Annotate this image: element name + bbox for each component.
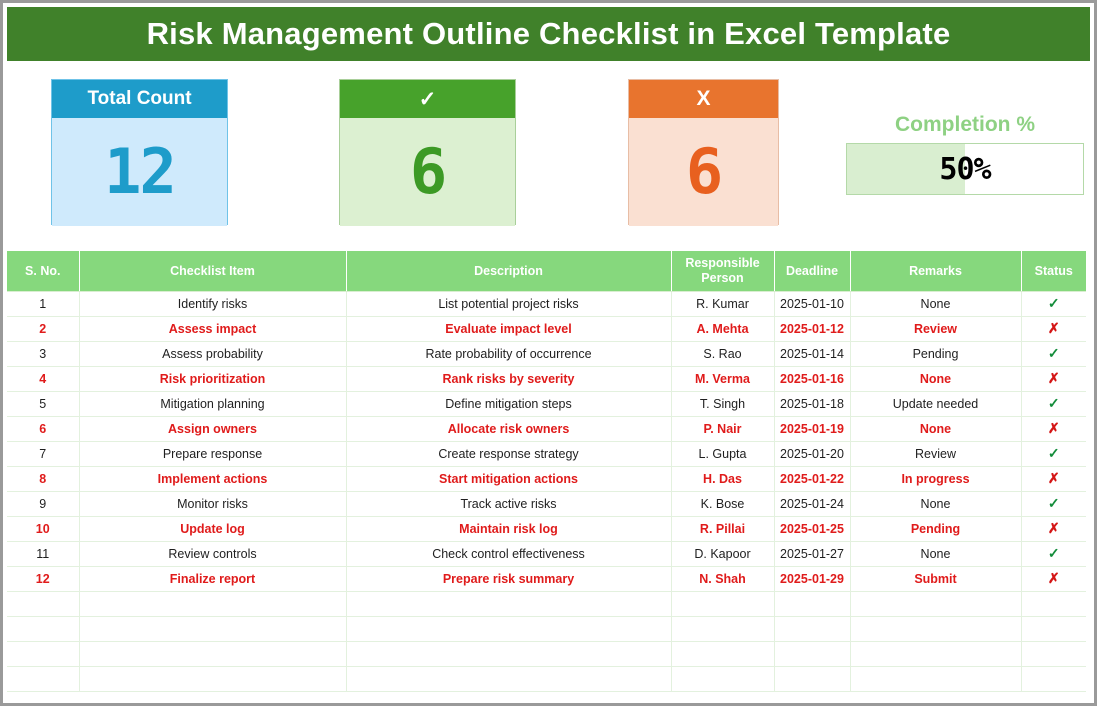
cell-description[interactable]: Evaluate impact level — [346, 316, 671, 341]
cell-responsible-person[interactable]: H. Das — [671, 466, 774, 491]
cell-empty[interactable] — [671, 641, 774, 666]
completion-percent-card[interactable]: Completion % 50% — [846, 113, 1084, 195]
table-row-empty[interactable] — [7, 591, 1086, 616]
page-title: Risk Management Outline Checklist in Exc… — [147, 16, 951, 52]
cell-empty[interactable] — [850, 666, 1021, 691]
completion-percent-label: Completion % — [846, 113, 1084, 137]
cell-checklist-item[interactable]: Review controls — [79, 541, 346, 566]
table-row[interactable]: 12Finalize reportPrepare risk summaryN. … — [7, 566, 1086, 591]
cell-responsible-person[interactable]: S. Rao — [671, 341, 774, 366]
cell-empty[interactable] — [7, 616, 79, 641]
cell-status[interactable]: ✓ — [1021, 291, 1086, 316]
cell-checklist-item[interactable]: Assess probability — [79, 341, 346, 366]
cell-status[interactable]: ✓ — [1021, 491, 1086, 516]
cell-remarks[interactable]: Pending — [850, 516, 1021, 541]
cell-empty[interactable] — [346, 591, 671, 616]
table-row-empty[interactable] — [7, 666, 1086, 691]
status-cross-icon: ✗ — [1048, 570, 1060, 586]
cell-responsible-person[interactable]: A. Mehta — [671, 316, 774, 341]
cell-s-no[interactable]: 8 — [7, 466, 79, 491]
cell-deadline[interactable]: 2025-01-29 — [774, 566, 850, 591]
spreadsheet-canvas: Risk Management Outline Checklist in Exc… — [0, 0, 1097, 706]
kpi-not-completed-value: 6 — [686, 141, 721, 203]
cell-empty[interactable] — [7, 591, 79, 616]
cell-status[interactable]: ✗ — [1021, 416, 1086, 441]
cell-empty[interactable] — [346, 616, 671, 641]
status-check-icon: ✓ — [1048, 395, 1060, 411]
status-cross-icon: ✗ — [1048, 370, 1060, 386]
table-row[interactable]: 3Assess probabilityRate probability of o… — [7, 341, 1086, 366]
cell-responsible-person[interactable]: N. Shah — [671, 566, 774, 591]
cell-empty[interactable] — [346, 666, 671, 691]
cell-deadline[interactable]: 2025-01-24 — [774, 491, 850, 516]
cell-deadline[interactable]: 2025-01-10 — [774, 291, 850, 316]
column-header-description[interactable]: Description — [346, 251, 671, 291]
table-row[interactable]: 5Mitigation planningDefine mitigation st… — [7, 391, 1086, 416]
cell-s-no[interactable]: 5 — [7, 391, 79, 416]
cell-responsible-person[interactable]: D. Kapoor — [671, 541, 774, 566]
completion-percent-value: 50% — [847, 144, 1083, 194]
cell-empty[interactable] — [7, 641, 79, 666]
column-header-responsible-person[interactable]: Responsible Person — [671, 251, 774, 291]
cell-deadline[interactable]: 2025-01-25 — [774, 516, 850, 541]
cell-empty[interactable] — [671, 591, 774, 616]
status-check-icon: ✓ — [1048, 495, 1060, 511]
cell-checklist-item[interactable]: Mitigation planning — [79, 391, 346, 416]
cell-description[interactable]: List potential project risks — [346, 291, 671, 316]
cell-status[interactable]: ✗ — [1021, 316, 1086, 341]
table-row-empty[interactable] — [7, 616, 1086, 641]
status-cross-icon: ✗ — [1048, 520, 1060, 536]
status-check-icon: ✓ — [1048, 345, 1060, 361]
cell-description[interactable]: Define mitigation steps — [346, 391, 671, 416]
cell-responsible-person[interactable]: L. Gupta — [671, 441, 774, 466]
cell-status[interactable]: ✗ — [1021, 566, 1086, 591]
table-header: S. No. Checklist Item Description Respon… — [7, 251, 1086, 291]
cell-status[interactable]: ✓ — [1021, 441, 1086, 466]
cell-deadline[interactable]: 2025-01-12 — [774, 316, 850, 341]
cell-status[interactable]: ✗ — [1021, 516, 1086, 541]
cell-empty[interactable] — [346, 641, 671, 666]
cell-deadline[interactable]: 2025-01-22 — [774, 466, 850, 491]
cell-deadline[interactable]: 2025-01-20 — [774, 441, 850, 466]
status-check-icon: ✓ — [1048, 295, 1060, 311]
table-row[interactable]: 10Update logMaintain risk logR. Pillai20… — [7, 516, 1086, 541]
cell-remarks[interactable]: None — [850, 416, 1021, 441]
kpi-card-not-completed[interactable]: X 6 — [628, 79, 779, 225]
status-cross-icon: ✗ — [1048, 420, 1060, 436]
cell-deadline[interactable]: 2025-01-27 — [774, 541, 850, 566]
cell-description[interactable]: Rate probability of occurrence — [346, 341, 671, 366]
cell-empty[interactable] — [774, 616, 850, 641]
cell-s-no[interactable]: 3 — [7, 341, 79, 366]
cell-s-no[interactable]: 1 — [7, 291, 79, 316]
cell-status[interactable]: ✓ — [1021, 391, 1086, 416]
kpi-total-count-value: 12 — [104, 141, 175, 203]
cell-s-no[interactable]: 9 — [7, 491, 79, 516]
cell-responsible-person[interactable]: K. Bose — [671, 491, 774, 516]
cell-empty[interactable] — [1021, 616, 1086, 641]
cell-s-no[interactable]: 2 — [7, 316, 79, 341]
cell-empty[interactable] — [79, 591, 346, 616]
cell-remarks[interactable]: None — [850, 541, 1021, 566]
table-row[interactable]: 7Prepare responseCreate response strateg… — [7, 441, 1086, 466]
cell-remarks[interactable]: None — [850, 491, 1021, 516]
cell-empty[interactable] — [850, 616, 1021, 641]
cell-deadline[interactable]: 2025-01-19 — [774, 416, 850, 441]
cell-checklist-item[interactable]: Monitor risks — [79, 491, 346, 516]
cell-description[interactable]: Prepare risk summary — [346, 566, 671, 591]
column-header-s-no[interactable]: S. No. — [7, 251, 79, 291]
cell-empty[interactable] — [1021, 641, 1086, 666]
cell-empty[interactable] — [7, 666, 79, 691]
cell-empty[interactable] — [850, 641, 1021, 666]
cell-empty[interactable] — [1021, 666, 1086, 691]
checklist-table[interactable]: S. No. Checklist Item Description Respon… — [7, 251, 1086, 692]
sheet-title-banner: Risk Management Outline Checklist in Exc… — [7, 7, 1090, 61]
table-row[interactable]: 4Risk prioritizationRank risks by severi… — [7, 366, 1086, 391]
cell-status[interactable]: ✗ — [1021, 366, 1086, 391]
cell-s-no[interactable]: 7 — [7, 441, 79, 466]
cell-deadline[interactable]: 2025-01-18 — [774, 391, 850, 416]
cell-description[interactable]: Start mitigation actions — [346, 466, 671, 491]
table-row[interactable]: 2Assess impactEvaluate impact levelA. Me… — [7, 316, 1086, 341]
cell-status[interactable]: ✓ — [1021, 541, 1086, 566]
cell-empty[interactable] — [774, 666, 850, 691]
table-row[interactable]: 11Review controlsCheck control effective… — [7, 541, 1086, 566]
cell-s-no[interactable]: 10 — [7, 516, 79, 541]
table-row[interactable]: 1Identify risksList potential project ri… — [7, 291, 1086, 316]
kpi-completed-body: 6 — [340, 118, 515, 226]
cell-s-no[interactable]: 6 — [7, 416, 79, 441]
cell-responsible-person[interactable]: R. Pillai — [671, 516, 774, 541]
table-row[interactable]: 8Implement actionsStart mitigation actio… — [7, 466, 1086, 491]
cell-status[interactable]: ✗ — [1021, 466, 1086, 491]
cell-empty[interactable] — [850, 591, 1021, 616]
status-cross-icon: ✗ — [1048, 320, 1060, 336]
kpi-not-completed-body: 6 — [629, 118, 778, 226]
cell-empty[interactable] — [774, 641, 850, 666]
kpi-card-total-count[interactable]: Total Count 12 — [51, 79, 228, 225]
cell-responsible-person[interactable]: M. Verma — [671, 366, 774, 391]
cell-checklist-item[interactable]: Risk prioritization — [79, 366, 346, 391]
check-icon: ✓ — [340, 80, 515, 118]
cell-description[interactable]: Track active risks — [346, 491, 671, 516]
cell-remarks[interactable]: None — [850, 291, 1021, 316]
cell-empty[interactable] — [774, 591, 850, 616]
column-header-deadline[interactable]: Deadline — [774, 251, 850, 291]
column-header-status[interactable]: Status — [1021, 251, 1086, 291]
cell-checklist-item[interactable]: Assess impact — [79, 316, 346, 341]
cell-remarks[interactable]: Pending — [850, 341, 1021, 366]
cell-responsible-person[interactable]: R. Kumar — [671, 291, 774, 316]
cell-empty[interactable] — [1021, 591, 1086, 616]
cell-description[interactable]: Allocate risk owners — [346, 416, 671, 441]
cell-remarks[interactable]: Update needed — [850, 391, 1021, 416]
table-row[interactable]: 9Monitor risksTrack active risksK. Bose2… — [7, 491, 1086, 516]
cell-status[interactable]: ✓ — [1021, 341, 1086, 366]
cell-responsible-person[interactable]: T. Singh — [671, 391, 774, 416]
kpi-total-count-body: 12 — [52, 118, 227, 226]
cell-checklist-item[interactable]: Prepare response — [79, 441, 346, 466]
kpi-card-completed[interactable]: ✓ 6 — [339, 79, 516, 225]
cell-deadline[interactable]: 2025-01-16 — [774, 366, 850, 391]
cell-s-no[interactable]: 12 — [7, 566, 79, 591]
cell-remarks[interactable]: None — [850, 366, 1021, 391]
cell-deadline[interactable]: 2025-01-14 — [774, 341, 850, 366]
cell-remarks[interactable]: In progress — [850, 466, 1021, 491]
kpi-total-count-label: Total Count — [52, 80, 227, 118]
table-row[interactable]: 6Assign ownersAllocate risk ownersP. Nai… — [7, 416, 1086, 441]
cell-remarks[interactable]: Review — [850, 316, 1021, 341]
cell-checklist-item[interactable]: Identify risks — [79, 291, 346, 316]
table-row-empty[interactable] — [7, 641, 1086, 666]
column-header-checklist-item[interactable]: Checklist Item — [79, 251, 346, 291]
status-cross-icon: ✗ — [1048, 470, 1060, 486]
cell-remarks[interactable]: Submit — [850, 566, 1021, 591]
cell-description[interactable]: Create response strategy — [346, 441, 671, 466]
kpi-completed-value: 6 — [410, 141, 445, 203]
cell-description[interactable]: Check control effectiveness — [346, 541, 671, 566]
cell-checklist-item[interactable]: Finalize report — [79, 566, 346, 591]
status-check-icon: ✓ — [1048, 445, 1060, 461]
table-body: 1Identify risksList potential project ri… — [7, 291, 1086, 691]
cell-checklist-item[interactable]: Assign owners — [79, 416, 346, 441]
cell-checklist-item[interactable]: Update log — [79, 516, 346, 541]
column-header-remarks[interactable]: Remarks — [850, 251, 1021, 291]
cell-empty[interactable] — [79, 616, 346, 641]
cell-empty[interactable] — [671, 666, 774, 691]
cell-checklist-item[interactable]: Implement actions — [79, 466, 346, 491]
cell-remarks[interactable]: Review — [850, 441, 1021, 466]
table-header-row: S. No. Checklist Item Description Respon… — [7, 251, 1086, 291]
completion-databar: 50% — [846, 143, 1084, 195]
cell-empty[interactable] — [79, 641, 346, 666]
cell-s-no[interactable]: 4 — [7, 366, 79, 391]
cell-empty[interactable] — [671, 616, 774, 641]
cell-description[interactable]: Rank risks by severity — [346, 366, 671, 391]
cell-empty[interactable] — [79, 666, 346, 691]
cell-description[interactable]: Maintain risk log — [346, 516, 671, 541]
cross-icon: X — [629, 80, 778, 118]
cell-s-no[interactable]: 11 — [7, 541, 79, 566]
cell-responsible-person[interactable]: P. Nair — [671, 416, 774, 441]
status-check-icon: ✓ — [1048, 545, 1060, 561]
